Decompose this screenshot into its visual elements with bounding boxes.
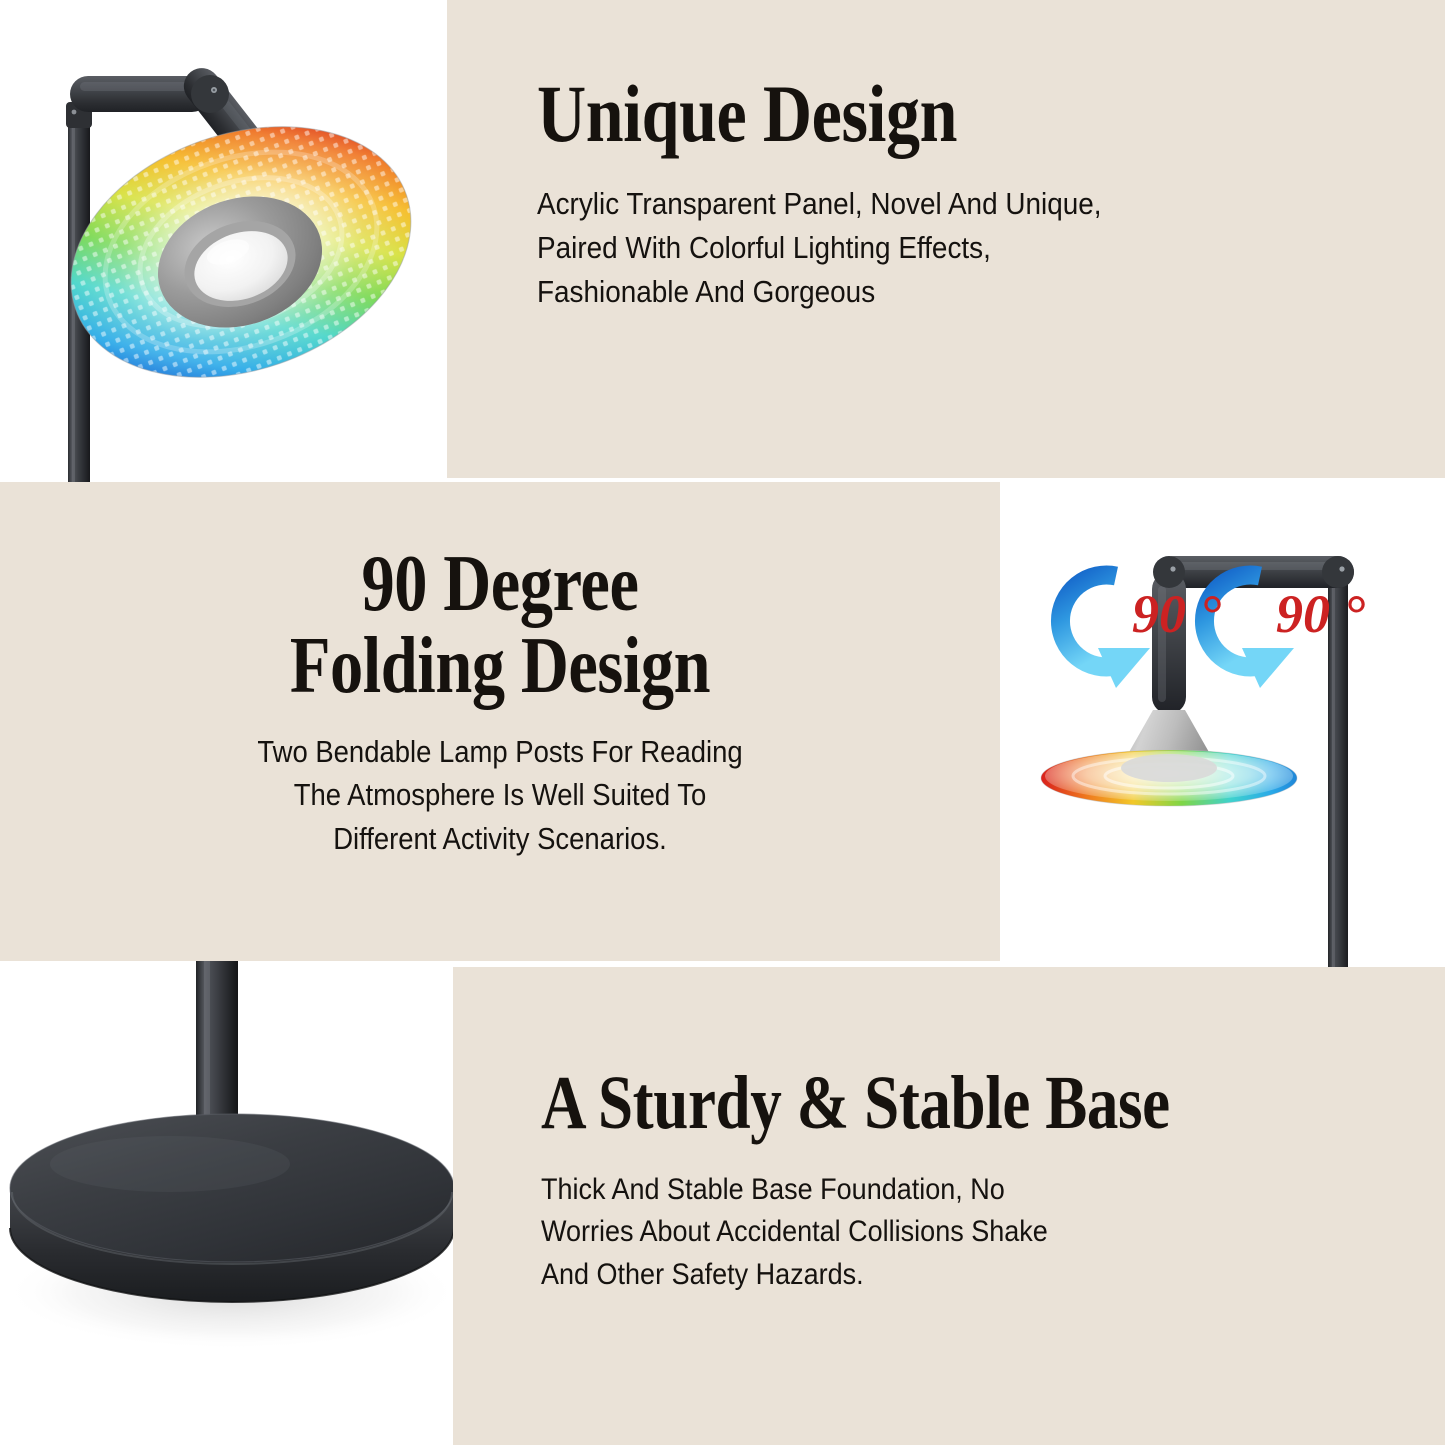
- body-line: Paired With Colorful Lighting Effects,: [537, 226, 1354, 270]
- lamp-head-product-image: [28, 40, 458, 490]
- body-line: Different Activity Scenarios.: [50, 818, 950, 861]
- unique-design-heading: Unique Design: [537, 72, 1291, 156]
- panel-sturdy-base: A Sturdy & Stable Base Thick And Stable …: [453, 967, 1445, 1445]
- folding-design-body: Two Bendable Lamp Posts For Reading The …: [50, 731, 950, 861]
- panel-unique-design: Unique Design Acrylic Transparent Panel,…: [447, 0, 1445, 478]
- rotation-label-right: 90 °: [1276, 584, 1366, 644]
- folding-demo-product-image: 90 ° 90 °: [1032, 520, 1445, 980]
- sturdy-base-body: Thick And Stable Base Foundation, No Wor…: [541, 1169, 1355, 1297]
- folding-design-heading-line2: Folding Design: [85, 626, 915, 708]
- unique-design-text-block: Unique Design Acrylic Transparent Panel,…: [537, 72, 1445, 314]
- body-line: Worries About Accidental Collisions Shak…: [541, 1211, 1355, 1254]
- body-line: The Atmosphere Is Well Suited To: [50, 774, 950, 817]
- folding-design-heading-line1: 90 Degree: [85, 544, 915, 626]
- rotation-label-left: 90 °: [1132, 584, 1222, 644]
- sturdy-base-heading: A Sturdy & Stable Base: [541, 1065, 1291, 1143]
- lamp-base-product-image: [0, 940, 460, 1380]
- body-line: Fashionable And Gorgeous: [537, 270, 1354, 314]
- infographic-canvas: 90 ° 90 °: [0, 0, 1445, 1445]
- body-line: And Other Safety Hazards.: [541, 1254, 1355, 1297]
- body-line: Acrylic Transparent Panel, Novel And Uni…: [537, 182, 1354, 226]
- folding-design-text-block: 90 Degree Folding Design Two Bendable La…: [0, 544, 1000, 861]
- sturdy-base-text-block: A Sturdy & Stable Base Thick And Stable …: [541, 1065, 1445, 1296]
- unique-design-body: Acrylic Transparent Panel, Novel And Uni…: [537, 182, 1354, 314]
- body-line: Two Bendable Lamp Posts For Reading: [50, 731, 950, 774]
- body-line: Thick And Stable Base Foundation, No: [541, 1169, 1355, 1212]
- panel-folding-design: 90 Degree Folding Design Two Bendable La…: [0, 482, 1000, 961]
